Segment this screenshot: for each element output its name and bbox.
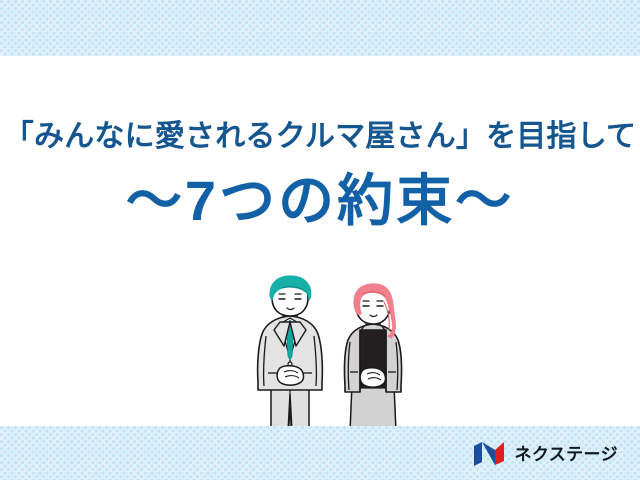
brand-name-text: ネクステージ [514, 446, 618, 463]
n-mark-left-stroke [474, 442, 482, 466]
male-staff-figure [258, 276, 323, 432]
promotional-banner: 「みんなに愛されるクルマ屋さん」を目指して 〜7つの約束〜 [0, 0, 640, 480]
top-dotted-band [0, 0, 640, 56]
staff-illustration-svg [244, 272, 420, 432]
n-mark-diagonal [482, 442, 495, 465]
staff-illustration [244, 272, 420, 432]
female-staff-figure [344, 284, 401, 432]
headline-secondary-text: 〜7つの約束〜 [0, 168, 640, 234]
headline-primary-text: 「みんなに愛されるクルマ屋さん」を目指して [0, 118, 640, 156]
brand-logo: ネクステージ [473, 439, 618, 469]
nexstage-n-mark-icon [473, 441, 507, 467]
n-mark-right-stroke [495, 442, 504, 465]
headline-block: 「みんなに愛されるクルマ屋さん」を目指して 〜7つの約束〜 [0, 118, 640, 234]
